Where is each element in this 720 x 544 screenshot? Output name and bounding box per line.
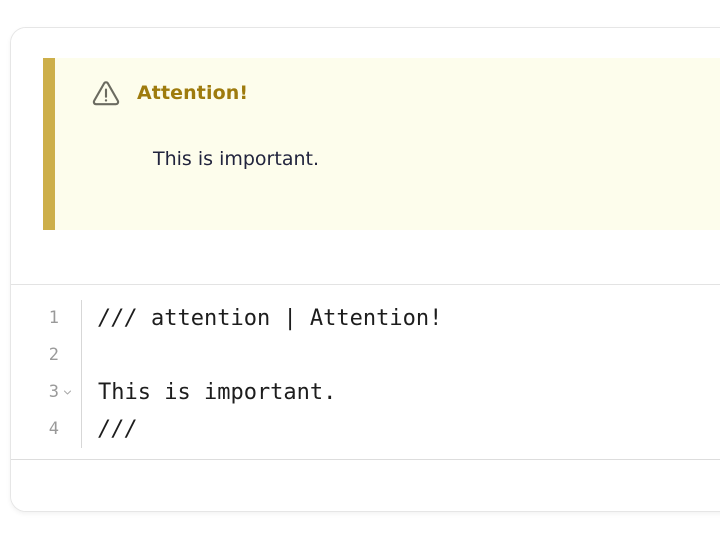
code-text-area[interactable]: /// attention | Attention! This is impor… xyxy=(82,300,720,448)
fold-slot xyxy=(59,388,75,397)
admonition-title: Attention! xyxy=(137,82,248,104)
line-number: 3 xyxy=(49,384,59,401)
line-number: 2 xyxy=(49,347,59,364)
chevron-down-icon[interactable] xyxy=(63,388,72,397)
gutter-row: 1 xyxy=(11,300,81,337)
gutter-row: 2 xyxy=(11,337,81,374)
line-number: 4 xyxy=(49,421,59,438)
card-footer xyxy=(11,461,720,512)
code-editor: 1 2 3 xyxy=(11,300,720,448)
source-code-pane: 1 2 3 xyxy=(11,286,720,460)
attention-admonition: Attention! This is important. xyxy=(43,58,720,230)
admonition-title-row: Attention! xyxy=(91,78,248,108)
code-line[interactable]: /// attention | Attention! xyxy=(98,300,720,337)
code-text-token: This is important. xyxy=(98,382,336,404)
code-line[interactable] xyxy=(98,337,720,374)
code-line[interactable]: /// xyxy=(98,411,720,448)
line-number: 1 xyxy=(49,310,59,327)
page-root: Attention! This is important. 1 2 xyxy=(0,0,720,544)
line-number-gutter: 1 2 3 xyxy=(11,300,82,448)
gutter-row: 3 xyxy=(11,374,81,411)
warning-triangle-icon xyxy=(91,78,121,108)
code-text-token: attention | Attention! xyxy=(138,308,443,330)
rendered-preview-pane: Attention! This is important. xyxy=(11,28,720,285)
code-fence-token: /// xyxy=(98,308,138,330)
code-fence-token: /// xyxy=(98,419,138,441)
admonition-body-text: This is important. xyxy=(153,148,319,170)
code-line[interactable]: This is important. xyxy=(98,374,720,411)
preview-card: Attention! This is important. 1 2 xyxy=(10,27,720,512)
gutter-row: 4 xyxy=(11,411,81,448)
